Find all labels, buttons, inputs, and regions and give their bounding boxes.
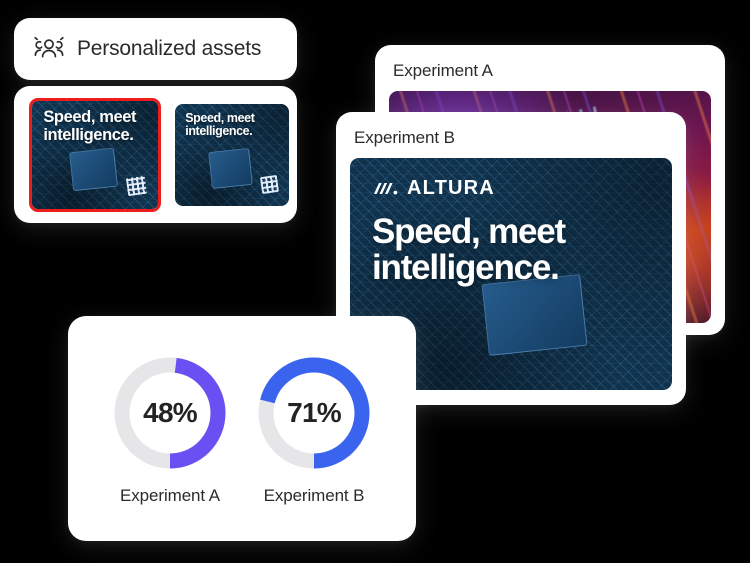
- donut-chart-a[interactable]: 48%: [109, 352, 231, 474]
- asset-thumbnail-image: Speed, meet intelligence.: [175, 104, 289, 206]
- personalized-assets-list: Speed, meet intelligence. Speed, meet in…: [14, 86, 297, 223]
- chip-graphic: [69, 148, 118, 191]
- metric-experiment-b: 71% Experiment B: [253, 352, 375, 506]
- experiment-b-title: Experiment B: [354, 128, 672, 148]
- personalized-assets-title: Personalized assets: [77, 37, 261, 61]
- experiment-a-title: Experiment A: [393, 61, 711, 81]
- altura-mark-icon: [372, 180, 406, 197]
- donut-chart-b[interactable]: 71%: [253, 352, 375, 474]
- chip-graphic: [209, 148, 253, 189]
- metric-label-b: Experiment B: [264, 486, 365, 506]
- asset-thumbnail-headline: Speed, meet intelligence.: [43, 109, 150, 144]
- personalized-assets-header: Personalized assets: [14, 18, 297, 80]
- group-people-icon: [34, 36, 64, 62]
- asset-thumbnail-image: Speed, meet intelligence.: [32, 101, 158, 209]
- experiment-results-panel: 48% Experiment A 71% Experiment B: [68, 316, 416, 541]
- donut-value-b: 71%: [253, 352, 375, 474]
- altura-logo: ALTURA: [372, 178, 650, 198]
- chip-pins-graphic: [259, 175, 278, 195]
- metric-label-a: Experiment A: [120, 486, 220, 506]
- experiment-b-headline: Speed, meet intelligence.: [372, 214, 650, 287]
- metric-experiment-a: 48% Experiment A: [109, 352, 231, 506]
- donut-value-a: 48%: [109, 352, 231, 474]
- asset-thumbnail[interactable]: Speed, meet intelligence.: [175, 104, 289, 206]
- asset-thumbnail-selected[interactable]: Speed, meet intelligence.: [29, 98, 161, 212]
- headline-line-2: intelligence.: [372, 250, 650, 286]
- altura-wordmark: ALTURA: [407, 178, 495, 198]
- screenshot-canvas: Personalized assets Speed, meet intellig…: [0, 0, 750, 563]
- chip-pins-graphic: [125, 176, 146, 197]
- asset-thumbnail-headline: Speed, meet intelligence.: [185, 112, 282, 139]
- headline-line-1: Speed, meet: [372, 214, 650, 250]
